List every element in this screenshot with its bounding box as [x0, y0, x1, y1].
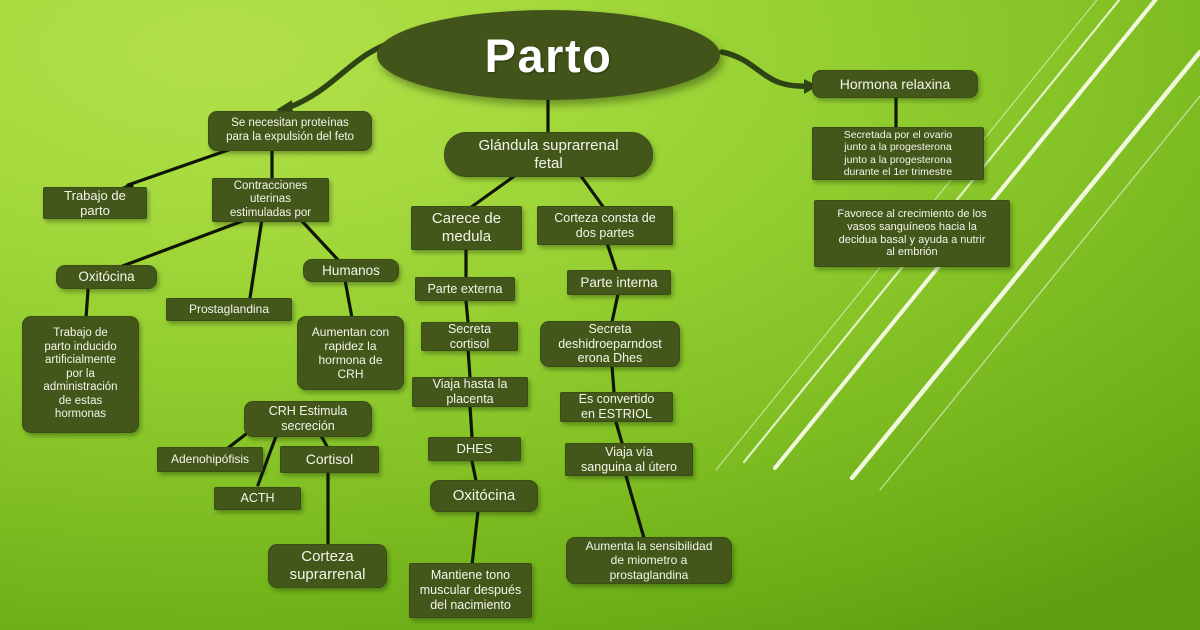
node-mantiene-tono[interactable]: Mantiene tono muscular después del nacim… — [409, 563, 532, 618]
node-proteinas[interactable]: Se necesitan proteínas para la expulsión… — [208, 111, 372, 151]
node-humanos[interactable]: Humanos — [303, 259, 399, 282]
node-parte-externa[interactable]: Parte externa — [415, 277, 515, 301]
node-prostaglandina[interactable]: Prostaglandina — [166, 298, 292, 321]
node-corteza-dos-partes[interactable]: Corteza consta de dos partes — [537, 206, 673, 245]
node-viaja-placenta[interactable]: Viaja hasta la placenta — [412, 377, 528, 407]
node-favorece-crecimiento[interactable]: Favorece al crecimiento de los vasos san… — [814, 200, 1010, 267]
concept-map-canvas: Parto Se necesitan proteínas para la exp… — [0, 0, 1200, 630]
node-oxitocina-izquierda[interactable]: Oxitócina — [56, 265, 157, 289]
node-dhes[interactable]: DHES — [428, 437, 521, 461]
node-aumentan-crh[interactable]: Aumentan con rapidez la hormona de CRH — [297, 316, 404, 390]
root-node-parto[interactable]: Parto — [377, 10, 720, 100]
node-secreta-cortisol[interactable]: Secreta cortisol — [421, 322, 518, 351]
node-contracciones[interactable]: Contracciones uterinas estimuladas por — [212, 178, 329, 222]
node-corteza-suprarrenal[interactable]: Corteza suprarrenal — [268, 544, 387, 588]
node-aumenta-sensibilidad[interactable]: Aumenta la sensibilidad de miometro a pr… — [566, 537, 732, 584]
root-node-label: Parto — [485, 28, 613, 83]
node-trabajo-parto[interactable]: Trabajo de parto — [43, 187, 147, 219]
node-adenohipofisis[interactable]: Adenohipófisis — [157, 447, 263, 472]
node-parte-interna[interactable]: Parte interna — [567, 270, 671, 295]
node-acth[interactable]: ACTH — [214, 487, 301, 510]
node-trabajo-inducido[interactable]: Trabajo de parto inducido artificialment… — [22, 316, 139, 433]
node-hormona-relaxina[interactable]: Hormona relaxina — [812, 70, 978, 98]
node-crh-estimula[interactable]: CRH Estimula secreción — [244, 401, 372, 437]
node-cortisol[interactable]: Cortisol — [280, 446, 379, 473]
node-carece-medula[interactable]: Carece de medula — [411, 206, 522, 250]
node-glandula-suprarrenal-fetal[interactable]: Glándula suprarrenal fetal — [444, 132, 653, 177]
node-oxitocina-centro[interactable]: Oxitócina — [430, 480, 538, 512]
node-convertido-estriol[interactable]: Es convertido en ESTRIOL — [560, 392, 673, 422]
node-viaja-utero[interactable]: Viaja vía sanguina al útero — [565, 443, 693, 476]
node-secreta-dhes[interactable]: Secreta deshidroeparndost erona Dhes — [540, 321, 680, 367]
node-secretada-ovario[interactable]: Secretada por el ovario junto a la proge… — [812, 127, 984, 180]
